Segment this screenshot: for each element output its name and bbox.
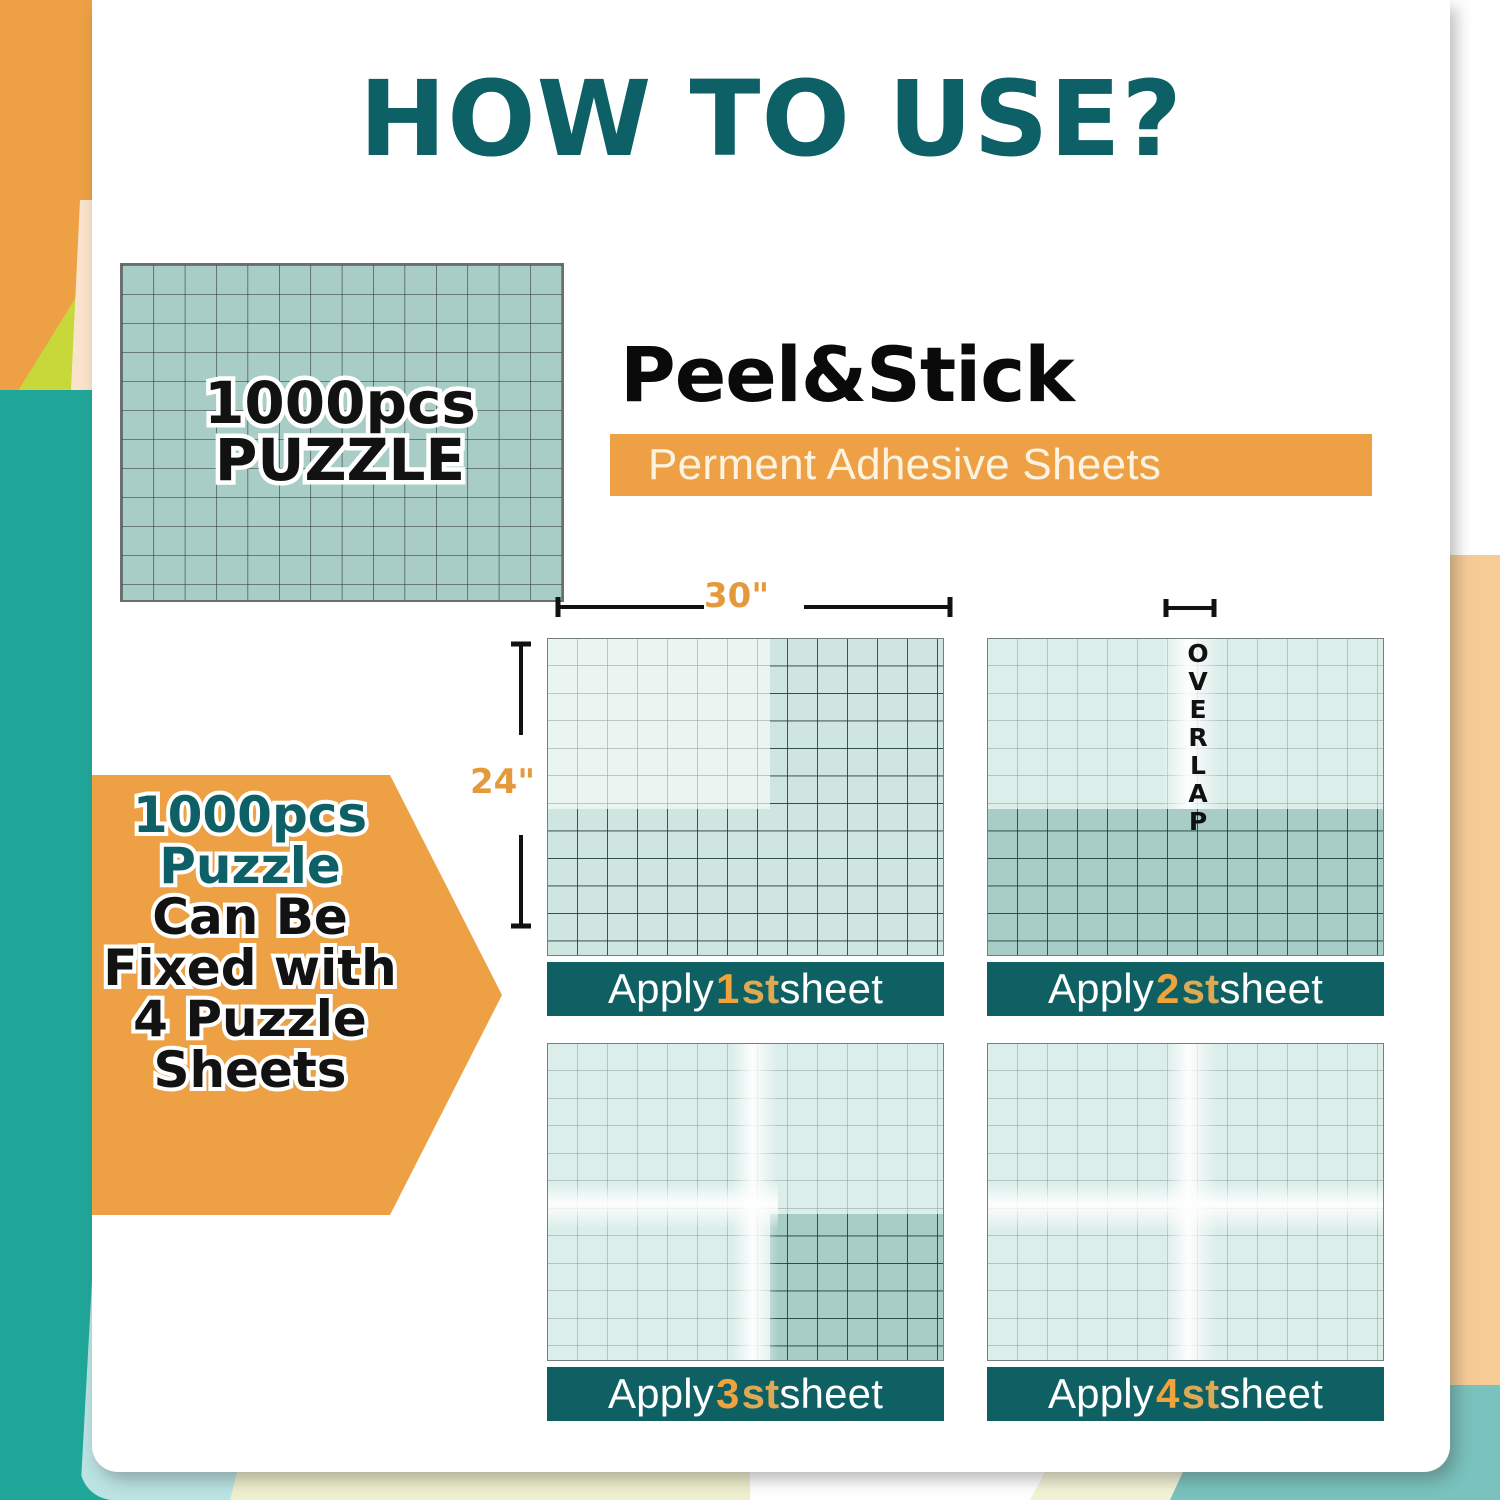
step-caption-2: Apply 2st sheet <box>987 962 1384 1016</box>
caption-3-number: 3 <box>714 1370 742 1418</box>
caption-4-prefix: Apply <box>1048 1370 1154 1418</box>
overlap-dimension-line <box>1162 598 1218 618</box>
puzzle-board-1 <box>547 638 944 956</box>
puzzle-thumbnail-caption: 1000pcs PUZZLE <box>120 375 560 489</box>
caption-3-prefix: Apply <box>608 1370 714 1418</box>
headline: Peel&Stick <box>620 330 1074 419</box>
step-panel-1 <box>547 638 944 956</box>
caption-4-number: 4 <box>1154 1370 1182 1418</box>
step-caption-1: Apply 1st sheet <box>547 962 944 1016</box>
caption-4-ordinal: st <box>1182 1370 1220 1418</box>
main-content-card: HOW TO USE? 1000pcs PUZZLE <box>92 0 1450 1472</box>
thumbnail-caption-line2: PUZZLE <box>215 426 465 494</box>
puzzle-board-4 <box>987 1043 1384 1361</box>
caption-2-number: 2 <box>1154 965 1182 1013</box>
banner-line-1: 1000pcs <box>92 790 460 841</box>
banner-line-2: Puzzle <box>92 841 460 892</box>
caption-3-suffix: sheet <box>779 1370 883 1418</box>
height-dimension-label: 24" <box>470 762 535 802</box>
caption-2-suffix: sheet <box>1219 965 1323 1013</box>
page-title: HOW TO USE? <box>92 58 1450 180</box>
puzzle-board-3 <box>547 1043 944 1361</box>
banner-line-3: Can Be <box>92 892 460 943</box>
banner-line-4: Fixed with <box>92 943 460 994</box>
caption-3-ordinal: st <box>742 1370 780 1418</box>
banner-line-5: 4 Puzzle <box>92 994 460 1045</box>
step-panel-4 <box>987 1043 1384 1361</box>
caption-1-prefix: Apply <box>608 965 714 1013</box>
step-caption-3: Apply 3st sheet <box>547 1367 944 1421</box>
caption-2-prefix: Apply <box>1048 965 1154 1013</box>
step-panel-3 <box>547 1043 944 1361</box>
subheadline-text: Perment Adhesive Sheets <box>610 440 1161 490</box>
banner-line-6: Sheets <box>92 1045 460 1096</box>
caption-1-number: 1 <box>714 965 742 1013</box>
caption-4-suffix: sheet <box>1219 1370 1323 1418</box>
caption-1-suffix: sheet <box>779 965 883 1013</box>
caption-2-ordinal: st <box>1182 965 1220 1013</box>
infographic-canvas: HOW TO USE? 1000pcs PUZZLE <box>0 0 1500 1500</box>
width-dimension-label: 30" <box>704 576 769 616</box>
subheadline-bar: Perment Adhesive Sheets <box>610 434 1372 496</box>
highlight-banner-text: 1000pcs Puzzle Can Be Fixed with 4 Puzzl… <box>92 790 460 1096</box>
caption-1-ordinal: st <box>742 965 780 1013</box>
overlap-label: OVERLAP <box>1185 640 1211 836</box>
step-caption-4: Apply 4st sheet <box>987 1367 1384 1421</box>
